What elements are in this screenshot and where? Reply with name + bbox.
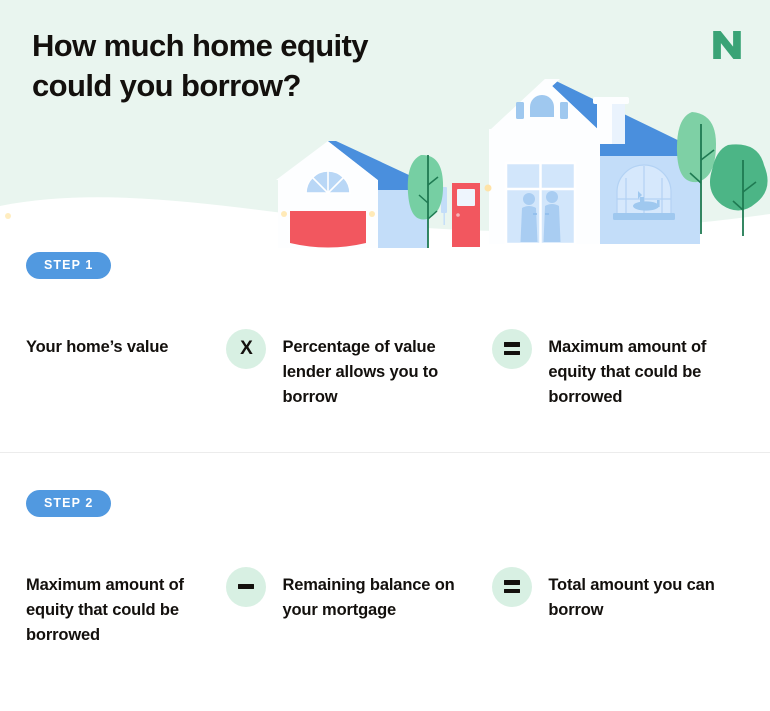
step-2-term-2: Remaining balance on your mortgage	[282, 567, 476, 623]
red-front-door	[452, 183, 480, 247]
step-2-badge: STEP 2	[26, 490, 111, 517]
multiply-operator-icon: X	[226, 329, 266, 369]
page-title: How much home equity could you borrow?	[32, 26, 462, 106]
red-garage-door	[290, 211, 366, 248]
step-1-formula-row: Your home’s value X Percentage of value …	[0, 329, 770, 410]
minus-glyph	[238, 584, 254, 589]
step-1-term-3: Maximum amount of equity that could be b…	[548, 329, 746, 410]
step-2-term-3: Total amount you can borrow	[548, 567, 746, 623]
sconce-light	[281, 211, 287, 217]
step-2-section: STEP 2 Maximum amount of equity that cou…	[0, 490, 770, 690]
step-2-formula-row: Maximum amount of equity that could be b…	[0, 567, 770, 648]
sconce-light	[369, 211, 375, 217]
multiply-glyph: X	[240, 339, 253, 358]
minus-operator-icon	[226, 567, 266, 607]
step-2-term-1: Maximum amount of equity that could be b…	[26, 567, 210, 648]
section-divider	[0, 452, 770, 453]
step-1-term-2: Percentage of value lender allows you to…	[282, 329, 476, 410]
step-1-badge: STEP 1	[26, 252, 111, 279]
sparkle	[5, 213, 11, 219]
french-doors	[506, 163, 575, 244]
equals-operator-icon-2	[492, 567, 532, 607]
equals-glyph-2	[504, 580, 520, 593]
nerdwallet-n-logo	[710, 28, 744, 62]
infographic-root: How much home equity could you borrow? S…	[0, 0, 770, 711]
porch-light	[485, 185, 492, 192]
chimney	[593, 97, 629, 144]
equals-glyph	[504, 342, 520, 355]
equals-operator-icon	[492, 329, 532, 369]
step-1-section: STEP 1 Your home’s value X Percentage of…	[0, 252, 770, 452]
step-1-term-1: Your home’s value	[26, 329, 210, 360]
